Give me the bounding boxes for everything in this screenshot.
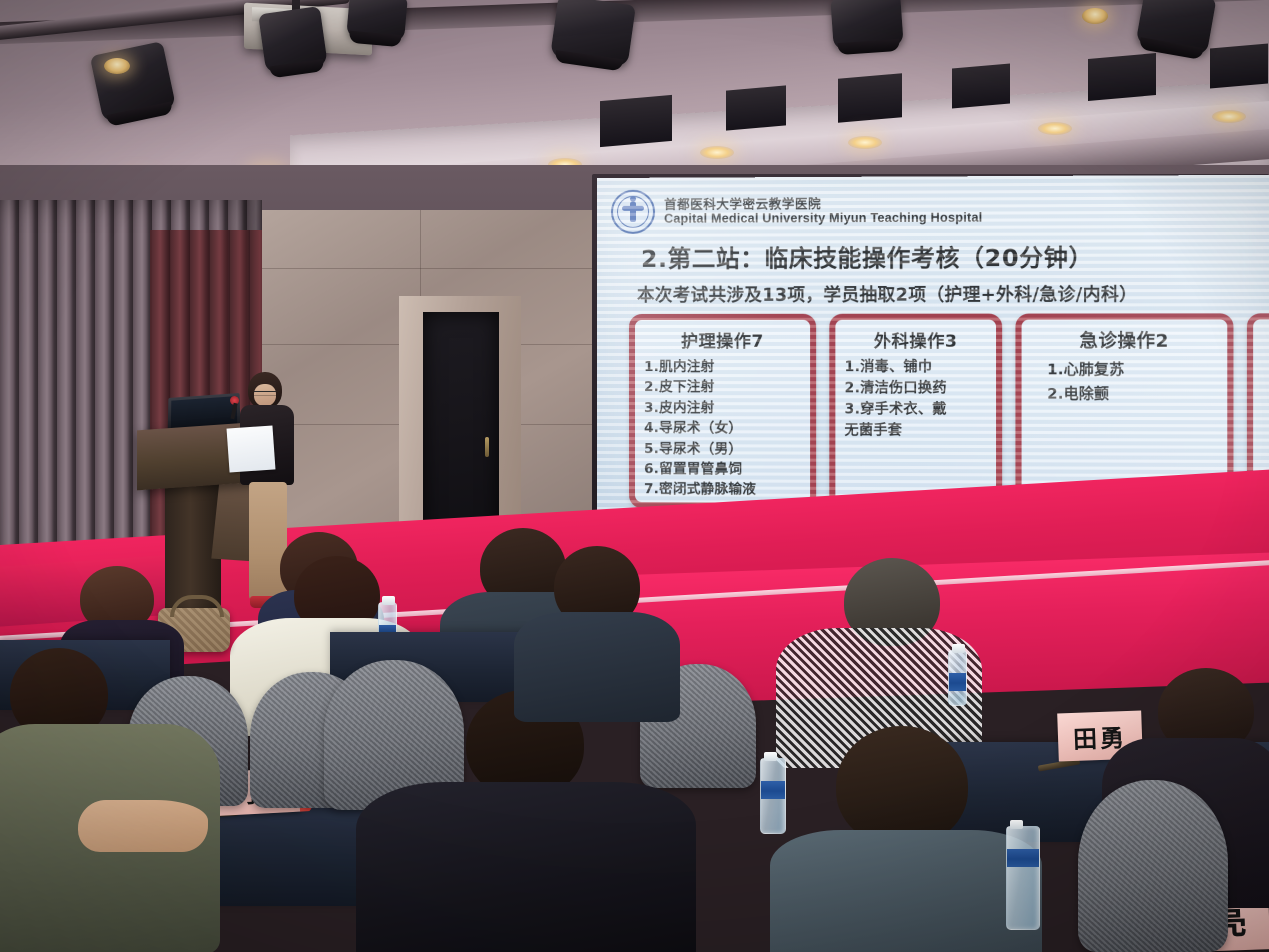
box-heading: 外科操作3 — [844, 327, 986, 352]
organization-name-chinese: 首都医科大学密云教学医院 — [664, 196, 982, 211]
audience-person — [520, 546, 670, 706]
procedure-item: 1.肌内注射 — [644, 357, 801, 378]
glasses-icon — [254, 391, 276, 396]
stage-light-fixture — [830, 0, 903, 50]
ceiling-downlight — [700, 146, 734, 159]
box-heading: 急诊操作2 — [1031, 327, 1218, 353]
person-torso — [514, 612, 680, 722]
procedure-item: 1.心肺复苏 — [1031, 358, 1218, 382]
person-torso — [356, 782, 696, 952]
slide-subtitle: 本次考试共涉及13项，学员抽取2项（护理+外科/急诊/内科） — [637, 281, 1137, 307]
procedure-item: 7.密闭式静脉输液 — [644, 480, 801, 501]
procedure-box-surgery: 外科操作3 1.消毒、铺巾 2.清洁伤口换药 3.穿手术衣、戴 无菌手套 — [829, 314, 1002, 510]
presenter-script-papers — [227, 425, 276, 472]
ceiling-downlight — [1038, 122, 1072, 135]
stage-light-fixture — [346, 0, 408, 42]
water-bottle[interactable] — [948, 650, 967, 706]
audience-chair[interactable] — [1078, 780, 1228, 952]
procedure-item: 3.皮内注射 — [644, 398, 801, 419]
procedure-item: 4.导尿术（女） — [644, 418, 801, 439]
ceiling-vent — [838, 73, 902, 123]
ceiling-vent — [1210, 43, 1268, 88]
stone-joint — [262, 268, 602, 269]
person-head — [836, 726, 968, 846]
door-handle[interactable] — [485, 437, 489, 457]
ceiling-downlight — [1212, 110, 1246, 123]
procedure-item: 3.穿手术衣、戴 — [844, 399, 986, 420]
audience-person — [786, 726, 1036, 952]
procedure-item: 2.电除颤 — [1031, 382, 1218, 406]
conference-hall-photo: 首都医科大学密云教学医院 Capital Medical University … — [0, 0, 1269, 952]
stage-light-fixture — [1136, 0, 1217, 56]
stage-light-fixture — [258, 6, 328, 74]
person-torso — [770, 830, 1042, 952]
hospital-crest-logo — [611, 190, 655, 234]
box-heading: 护理操作7 — [644, 327, 801, 352]
stage-light-fixture — [550, 0, 636, 67]
ceiling-vent — [1088, 53, 1156, 101]
procedure-box-nursing: 护理操作7 1.肌内注射 2.皮下注射 3.皮内注射 4.导尿术（女） 5.导尿… — [629, 314, 816, 509]
procedure-item: 5.导尿术（男） — [644, 439, 801, 460]
stage-light-fixture — [90, 41, 177, 123]
water-bottle[interactable] — [1006, 826, 1040, 930]
procedure-item: 6.留置胃管鼻饲 — [644, 459, 801, 480]
slide-title: 2.第二站：临床技能操作考核（20分钟） — [641, 239, 1093, 274]
hand — [78, 800, 208, 852]
slide-header: 首都医科大学密云教学医院 Capital Medical University … — [611, 188, 982, 234]
procedure-item: 2.皮下注射 — [644, 377, 801, 398]
ceiling-downlight — [848, 136, 882, 149]
audience-person-black-polo — [380, 690, 670, 952]
stage-light-lens — [104, 58, 130, 74]
ceiling-vent — [952, 63, 1010, 108]
water-bottle[interactable] — [760, 758, 786, 834]
procedure-item: 无菌手套 — [844, 420, 986, 441]
procedure-item: 2.清洁伤口换药 — [844, 378, 986, 399]
audience-hand — [78, 800, 208, 860]
led-presentation-screen: 首都医科大学密云教学医院 Capital Medical University … — [597, 175, 1269, 525]
stage-light-lens — [1082, 8, 1108, 24]
caduceus-figure-icon — [630, 202, 636, 222]
procedure-item: 1.消毒、铺巾 — [844, 357, 986, 378]
ceiling-vent — [600, 95, 672, 147]
ceiling-vent — [726, 85, 786, 130]
organization-name-english: Capital Medical University Miyun Teachin… — [664, 211, 982, 226]
